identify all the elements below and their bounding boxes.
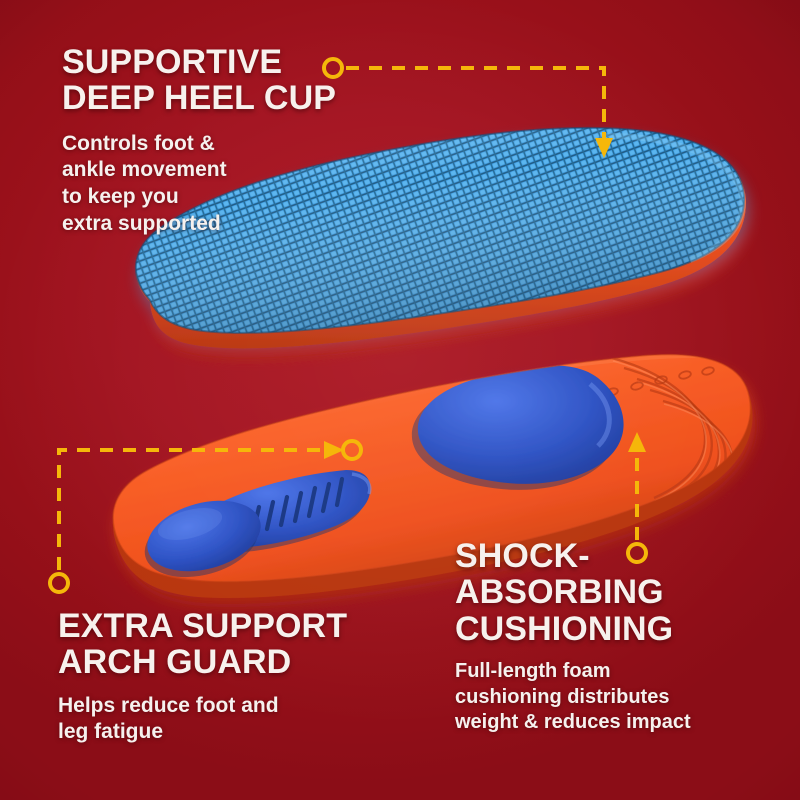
infographic-canvas: SUPPORTIVE DEEP HEEL CUP Controls foot &… <box>0 0 800 800</box>
feature-body: Full-length foam cushioning distributes … <box>455 659 765 735</box>
feature-arch-guard: EXTRA SUPPORT ARCH GUARD Helps reduce fo… <box>58 608 398 746</box>
feature-body: Controls foot & ankle movement to keep y… <box>62 131 362 238</box>
feature-body: Helps reduce foot and leg fatigue <box>58 693 398 746</box>
feature-heading: EXTRA SUPPORT ARCH GUARD <box>58 608 398 681</box>
feature-shock-absorbing: SHOCK- ABSORBING CUSHIONING Full-length … <box>455 538 765 735</box>
feature-deep-heel-cup: SUPPORTIVE DEEP HEEL CUP Controls foot &… <box>62 44 362 237</box>
feature-heading: SHOCK- ABSORBING CUSHIONING <box>455 538 765 647</box>
feature-heading: SUPPORTIVE DEEP HEEL CUP <box>62 44 362 117</box>
